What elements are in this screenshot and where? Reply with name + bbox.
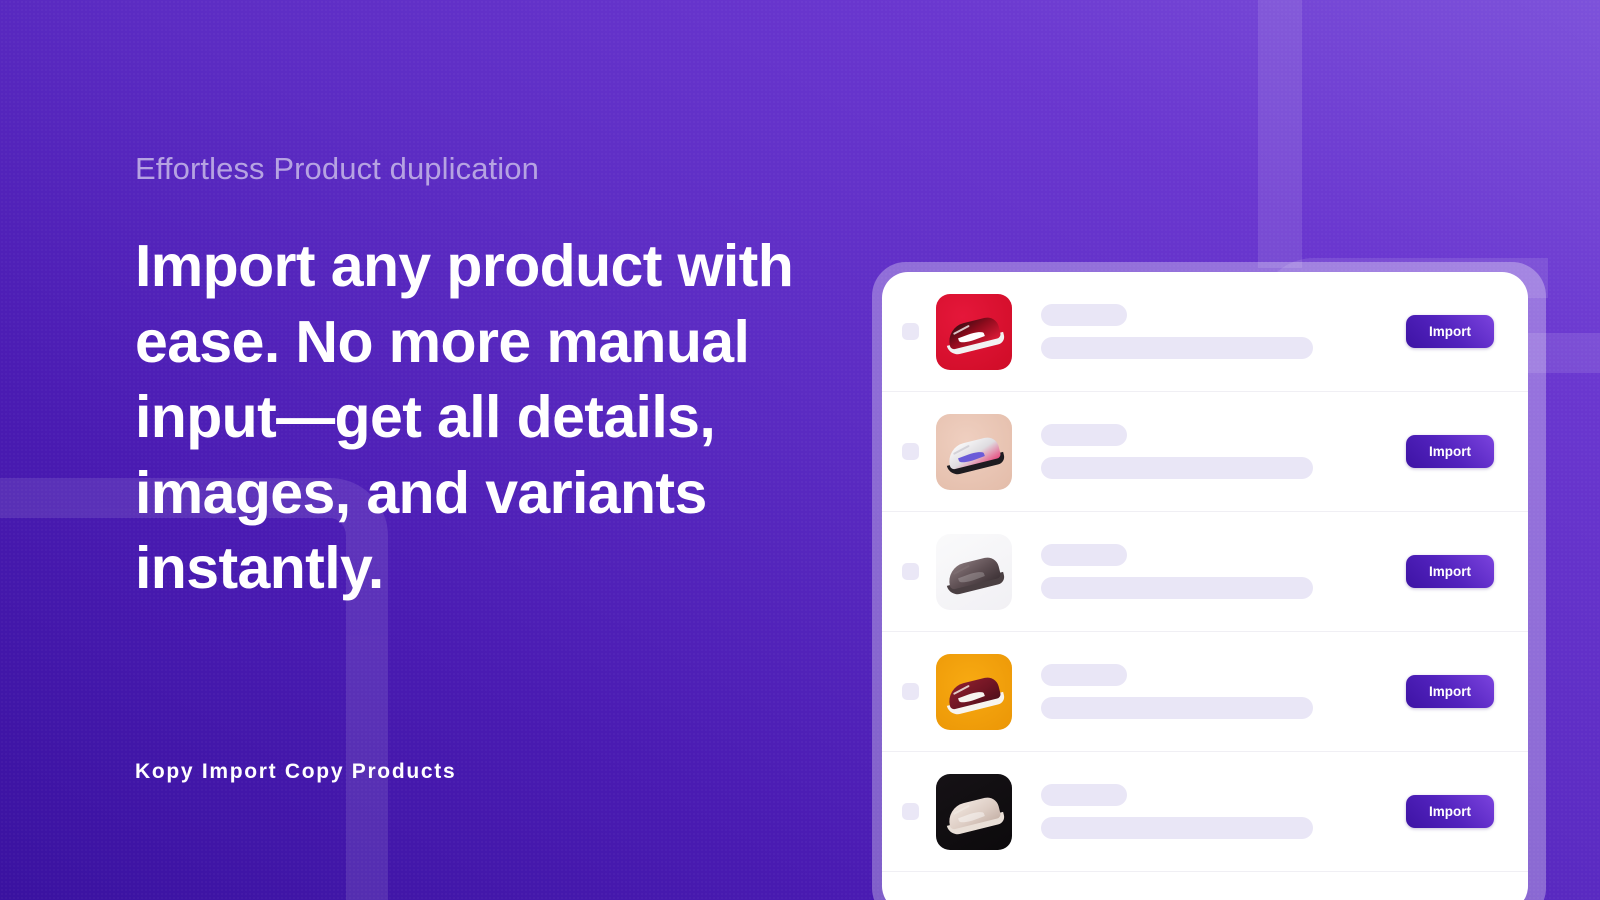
row-skeleton-placeholders	[1041, 664, 1406, 719]
brand-wordmark: Kopy Import Copy Products	[135, 760, 456, 784]
product-thumbnail	[936, 654, 1012, 730]
row-select-checkbox[interactable]	[902, 323, 919, 340]
hero-headline: Import any product with ease. No more ma…	[135, 229, 795, 607]
import-button[interactable]: Import	[1406, 435, 1494, 468]
skeleton-subtitle-bar	[1041, 697, 1313, 719]
skeleton-subtitle-bar	[1041, 457, 1313, 479]
import-button[interactable]: Import	[1406, 795, 1494, 828]
table-row[interactable]: Import	[882, 392, 1528, 512]
row-select-checkbox[interactable]	[902, 803, 919, 820]
row-skeleton-placeholders	[1041, 304, 1406, 359]
import-button[interactable]: Import	[1406, 675, 1494, 708]
skeleton-subtitle-bar	[1041, 337, 1313, 359]
table-row[interactable]: Import	[882, 512, 1528, 632]
row-select-checkbox[interactable]	[902, 443, 919, 460]
row-skeleton-placeholders	[1041, 544, 1406, 599]
product-thumbnail	[936, 294, 1012, 370]
skeleton-subtitle-bar	[1041, 577, 1313, 599]
row-skeleton-placeholders	[1041, 784, 1406, 839]
hero-copy: Effortless Product duplication Import an…	[135, 150, 835, 607]
table-row[interactable]: Import	[882, 272, 1528, 392]
product-thumbnail	[936, 774, 1012, 850]
skeleton-title-bar	[1041, 424, 1127, 446]
row-select-checkbox[interactable]	[902, 563, 919, 580]
skeleton-title-bar	[1041, 304, 1127, 326]
import-button[interactable]: Import	[1406, 555, 1494, 588]
skeleton-subtitle-bar	[1041, 817, 1313, 839]
product-thumbnail	[936, 534, 1012, 610]
row-skeleton-placeholders	[1041, 424, 1406, 479]
table-row[interactable]: Import	[882, 752, 1528, 872]
table-row[interactable]: Import	[882, 632, 1528, 752]
skeleton-title-bar	[1041, 664, 1127, 686]
product-thumbnail	[936, 414, 1012, 490]
skeleton-title-bar	[1041, 544, 1127, 566]
row-select-checkbox[interactable]	[902, 683, 919, 700]
product-import-list-card: Import Import	[882, 272, 1528, 900]
hero-eyebrow: Effortless Product duplication	[135, 150, 835, 187]
import-button[interactable]: Import	[1406, 315, 1494, 348]
skeleton-title-bar	[1041, 784, 1127, 806]
